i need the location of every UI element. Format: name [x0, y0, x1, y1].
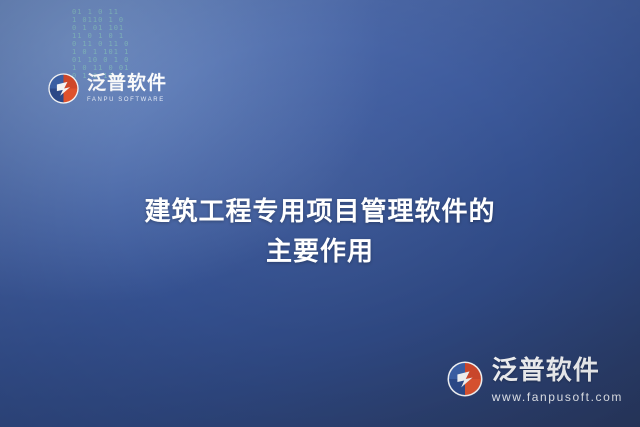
- brand-name-en: FANPU SOFTWARE: [87, 97, 167, 103]
- slide-title: 建筑工程专用项目管理软件的 主要作用: [0, 192, 640, 272]
- brand-logo-top-text: 泛普软件 FANPU SOFTWARE: [87, 74, 167, 103]
- brand-watermark-text: 泛普软件 www.fanpusoft.com: [492, 358, 623, 403]
- brand-name-cn: 泛普软件: [87, 74, 167, 93]
- brand-logo-top: 泛普软件 FANPU SOFTWARE: [47, 72, 167, 105]
- slide-canvas: 01 1 0 11 1 0110 1 0 0 1 01 101 11 0 1 0…: [0, 0, 640, 427]
- watermark-name-cn: 泛普软件: [492, 358, 623, 384]
- slide-title-line-1: 建筑工程专用项目管理软件的: [0, 192, 640, 232]
- slide-title-line-2: 主要作用: [0, 232, 640, 272]
- digital-rain-decoration: 01 1 0 11 1 0110 1 0 0 1 01 101 11 0 1 0…: [72, 8, 150, 82]
- brand-watermark: 泛普软件 www.fanpusoft.com: [446, 358, 623, 403]
- fanpu-logo-icon: [446, 360, 484, 398]
- fanpu-logo-icon: [47, 72, 80, 105]
- watermark-url: www.fanpusoft.com: [492, 391, 623, 403]
